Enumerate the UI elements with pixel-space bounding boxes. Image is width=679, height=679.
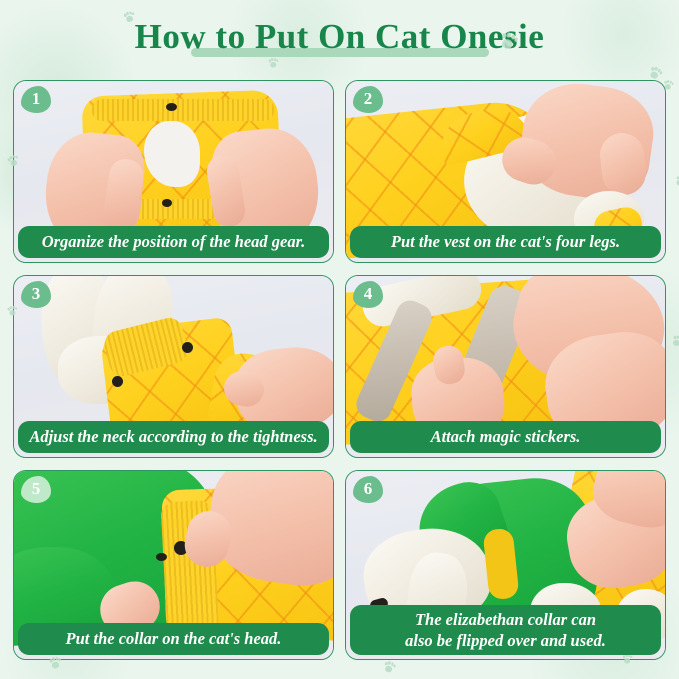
step-caption-6: The elizabethan collar can also be flipp…: [350, 605, 661, 655]
step-caption-4: Attach magic stickers.: [350, 421, 661, 453]
step-caption-5: Put the collar on the cat's head.: [18, 623, 329, 655]
step-panel-4[interactable]: 4 Attach magic stickers.: [345, 275, 666, 458]
step-panel-1[interactable]: 1 Organize the position of the head gear…: [13, 80, 334, 263]
step-number-badge-1: 1: [21, 86, 51, 113]
step-panel-3[interactable]: 3 Adjust the neck according to the tight…: [13, 275, 334, 458]
snap-button-top: [166, 103, 177, 111]
snap-button-bottom: [162, 199, 172, 207]
step-number-6: 6: [364, 480, 373, 497]
snap-button-upper: [182, 342, 193, 353]
step-caption-3: Adjust the neck according to the tightne…: [18, 421, 329, 453]
step-caption-line: The elizabethan collar can: [350, 609, 661, 630]
step-number-badge-6: 6: [353, 476, 383, 503]
page-title: How to Put On Cat Onesie: [0, 12, 679, 68]
snap-button-lower: [112, 376, 123, 387]
infographic-poster: How to Put On Cat Onesie: [0, 0, 679, 679]
headgear-ribbing-top: [92, 99, 274, 121]
step-caption-line: Organize the position of the head gear.: [18, 226, 329, 258]
step-caption-line: Adjust the neck according to the tightne…: [18, 421, 329, 453]
step-panel-5[interactable]: 5 Put the collar on the cat's head.: [13, 470, 334, 660]
snap-button-small: [156, 553, 167, 561]
step-panel-6[interactable]: 6 The elizabethan collar can also be fli…: [345, 470, 666, 660]
step-number-5: 5: [32, 480, 41, 497]
step-panel-2[interactable]: 2 Put the vest on the cat's four legs.: [345, 80, 666, 263]
steps-grid: 1 Organize the position of the head gear…: [13, 80, 666, 665]
step-caption-line: Put the collar on the cat's head.: [18, 623, 329, 655]
step-number-badge-5: 5: [21, 476, 51, 503]
paw-print-icon: [669, 333, 679, 348]
step-number-1: 1: [32, 90, 41, 107]
step-number-badge-4: 4: [353, 281, 383, 308]
step-number-3: 3: [32, 285, 41, 302]
step-caption-line: Attach magic stickers.: [350, 421, 661, 453]
step-number-4: 4: [364, 285, 373, 302]
step-caption-line: also be flipped over and used.: [350, 630, 661, 651]
step-caption-line: Put the vest on the cat's four legs.: [350, 226, 661, 258]
paw-print-icon: [673, 174, 679, 187]
step-caption-1: Organize the position of the head gear.: [18, 226, 329, 258]
page-title-text: How to Put On Cat Onesie: [135, 12, 545, 62]
step-number-badge-3: 3: [21, 281, 51, 308]
step-number-badge-2: 2: [353, 86, 383, 113]
step-caption-2: Put the vest on the cat's four legs.: [350, 226, 661, 258]
step-number-2: 2: [364, 90, 373, 107]
